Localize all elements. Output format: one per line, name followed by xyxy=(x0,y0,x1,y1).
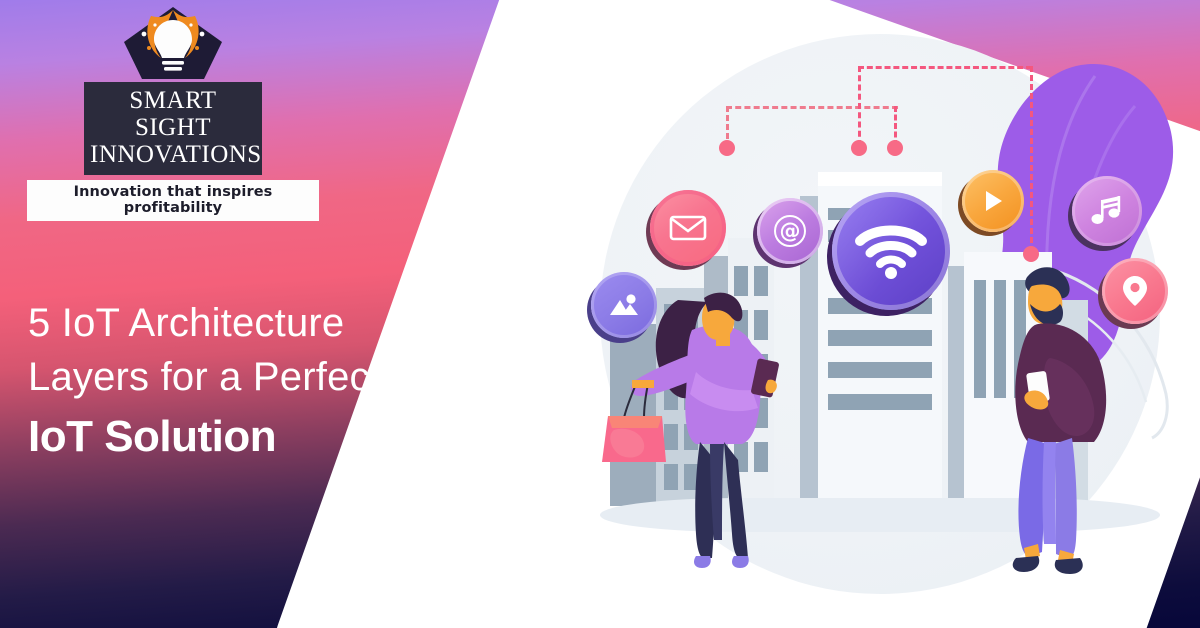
brand-logo[interactable]: SMART SIGHT INNOVATIONS Innovation that … xyxy=(18,6,328,221)
lightbulb-badge-icon xyxy=(121,6,225,80)
headline-line-2: Layers for a Perfect xyxy=(28,350,528,404)
brand-name-line1: SMART SIGHT xyxy=(90,87,256,141)
brand-name-block: SMART SIGHT INNOVATIONS xyxy=(84,82,262,175)
iot-blog-banner: @ xyxy=(0,0,1200,628)
brand-tagline: Innovation that inspires profitability xyxy=(27,180,319,221)
headline-line-3: IoT Solution xyxy=(28,410,528,464)
headline-block: 5 IoT Architecture Layers for a Perfect … xyxy=(28,296,528,464)
brand-name-line2: INNOVATIONS xyxy=(90,141,256,168)
headline-line-1: 5 IoT Architecture xyxy=(28,296,528,350)
